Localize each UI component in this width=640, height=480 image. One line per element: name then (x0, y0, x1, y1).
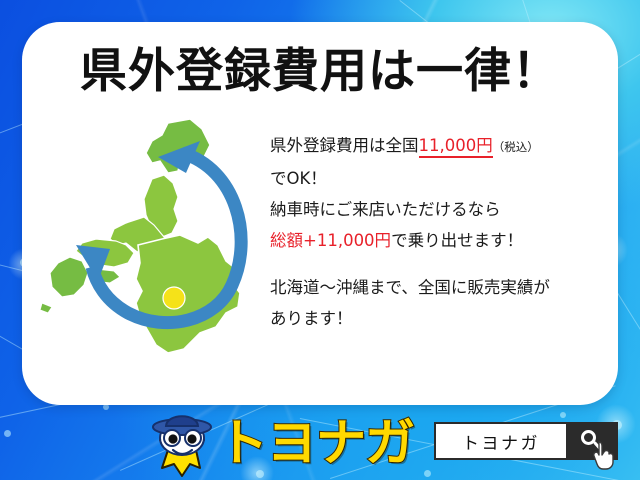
search-widget[interactable]: トヨナガ (434, 422, 618, 460)
body-line-2: でOK！ (270, 163, 600, 194)
paragraph-spacer (270, 256, 600, 272)
content-card: 県外登録費用は一律！ (22, 22, 618, 405)
body-text: 県外登録費用は全国11,000円（税込） でOK！ 納車時にご来店いただけるなら… (270, 130, 600, 334)
screenshot-root: 県外登録費用は一律！ (0, 0, 640, 480)
search-button[interactable] (566, 422, 618, 460)
japan-map-illustration (40, 117, 275, 392)
search-input[interactable]: トヨナガ (434, 422, 566, 460)
search-icon (581, 430, 603, 452)
map-location-marker (163, 287, 185, 309)
body-line-4-rest: で乗り出せます！ (391, 231, 523, 250)
body-line-4: 総額+11,000円で乗り出せます！ (270, 225, 600, 256)
tax-note: （税込） (493, 140, 539, 154)
body-line-1-prefix: 県外登録費用は全国 (270, 136, 419, 155)
body-line-5: 北海道〜沖縄まで、全国に販売実績が (270, 272, 600, 303)
mascot-character-icon (142, 410, 222, 480)
total-price-highlight: 総額+11,000円 (270, 231, 391, 250)
body-line-3: 納車時にご来店いただけるなら (270, 194, 600, 225)
body-line-6: あります！ (270, 303, 600, 334)
body-line-1: 県外登録費用は全国11,000円（税込） (270, 130, 600, 163)
page-title: 県外登録費用は一律！ (22, 46, 618, 99)
price-highlight: 11,000円 (419, 136, 493, 158)
brand-logo-text: トヨナガ (218, 415, 414, 471)
